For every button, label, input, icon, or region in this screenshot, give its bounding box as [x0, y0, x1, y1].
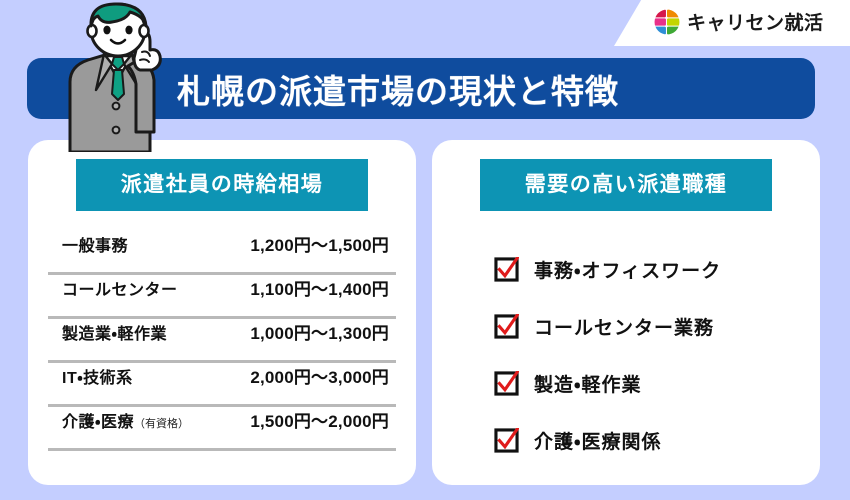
wage-value: 1,100円〜1,400円 — [250, 275, 389, 300]
pinwheel-logo-icon — [654, 9, 680, 35]
list-item-label: 介護・医療関係 — [534, 427, 661, 454]
infographic-canvas: キャリセン就活 札幌の派遣市場の現状と特徴 — [0, 0, 850, 500]
checkbox-checked-icon — [494, 257, 519, 282]
list-item-label: 事務・オフィスワーク — [534, 256, 721, 283]
in-demand-jobs-card-header: 需要の高い派遣職種 — [480, 159, 772, 211]
job-name: 製造業・軽作業 — [62, 320, 167, 344]
list-item-label: コールセンター業務 — [534, 313, 714, 340]
brand-logo-banner: キャリセン就活 — [614, 0, 850, 46]
checkbox-checked-icon — [494, 371, 519, 396]
in-demand-jobs-list: 事務・オフィスワーク コールセンター業務 製造・軽作業 — [432, 243, 820, 467]
brand-logo-text: キャリセン就活 — [687, 8, 824, 35]
hourly-wage-card-header: 派遣社員の時給相場 — [76, 159, 368, 211]
wage-value: 1,500円〜2,000円 — [250, 407, 389, 432]
job-name: 一般事務 — [62, 232, 128, 256]
list-item-label: 製造・軽作業 — [534, 370, 641, 397]
wage-value: 1,000円〜1,300円 — [250, 319, 389, 344]
list-item: 事務・オフィスワーク — [494, 243, 820, 296]
table-row: 一般事務 1,200円〜1,500円 — [48, 231, 396, 275]
job-name: IT・技術系 — [62, 364, 133, 388]
page-title-banner: 札幌の派遣市場の現状と特徴 — [27, 58, 815, 119]
wage-value: 2,000円〜3,000円 — [250, 363, 389, 388]
in-demand-jobs-card: 需要の高い派遣職種 事務・オフィスワーク コールセンター業務 — [432, 140, 820, 485]
checkbox-checked-icon — [494, 428, 519, 453]
job-name: 介護・医療（有資格） — [62, 408, 189, 432]
table-row: コールセンター 1,100円〜1,400円 — [48, 275, 396, 319]
hourly-wage-card: 派遣社員の時給相場 一般事務 1,200円〜1,500円 コールセンター 1,1… — [28, 140, 416, 485]
wage-value: 1,200円〜1,500円 — [250, 231, 389, 256]
job-note: （有資格） — [134, 418, 189, 430]
checkbox-checked-icon — [494, 314, 519, 339]
table-row: IT・技術系 2,000円〜3,000円 — [48, 363, 396, 407]
list-item: 介護・医療関係 — [494, 414, 820, 467]
table-row: 介護・医療（有資格） 1,500円〜2,000円 — [48, 407, 396, 451]
table-row: 製造業・軽作業 1,000円〜1,300円 — [48, 319, 396, 363]
hourly-wage-table: 一般事務 1,200円〜1,500円 コールセンター 1,100円〜1,400円… — [48, 231, 396, 451]
list-item: コールセンター業務 — [494, 300, 820, 353]
page-title: 札幌の派遣市場の現状と特徴 — [177, 65, 619, 113]
job-name: コールセンター — [62, 276, 178, 300]
list-item: 製造・軽作業 — [494, 357, 820, 410]
